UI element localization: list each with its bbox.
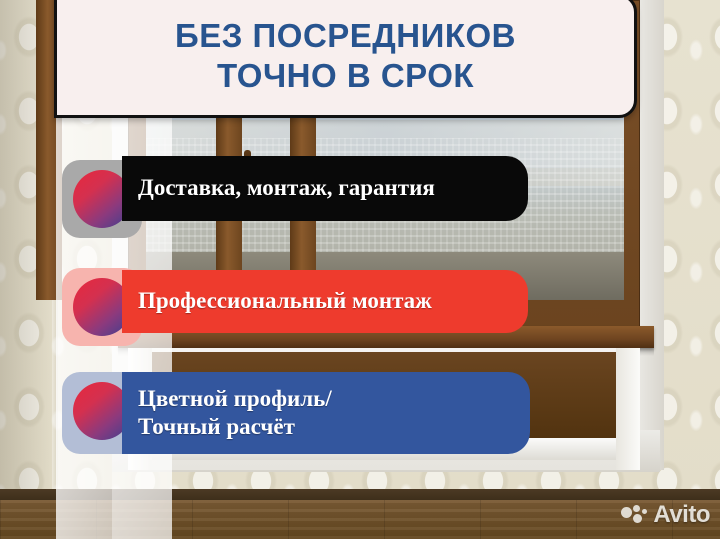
feature-banner-black: Доставка, монтаж, гарантия <box>122 156 528 221</box>
avito-wordmark: Avito <box>653 501 710 529</box>
feature-label-line-1: Цветной профиль/ <box>138 385 530 413</box>
headline-line-2: ТОЧНО В СРОК <box>217 56 474 96</box>
ad-banner-image: БЕЗ ПОСРЕДНИКОВ ТОЧНО В СРОК Доставка, м… <box>0 0 720 539</box>
avito-dots-logo-icon <box>621 505 647 525</box>
feature-label-line-2: Точный расчёт <box>138 413 530 441</box>
avito-watermark: Avito <box>621 501 710 529</box>
feature-banner-red: Профессиональный монтаж <box>122 270 528 333</box>
niche-right-edge <box>616 348 640 470</box>
feature-label: Профессиональный монтаж <box>138 287 528 315</box>
feature-label: Доставка, монтаж, гарантия <box>138 174 528 202</box>
headline-line-1: БЕЗ ПОСРЕДНИКОВ <box>175 16 516 56</box>
feature-banner-blue: Цветной профиль/ Точный расчёт <box>122 372 530 454</box>
headline-plate: БЕЗ ПОСРЕДНИКОВ ТОЧНО В СРОК <box>54 0 637 118</box>
